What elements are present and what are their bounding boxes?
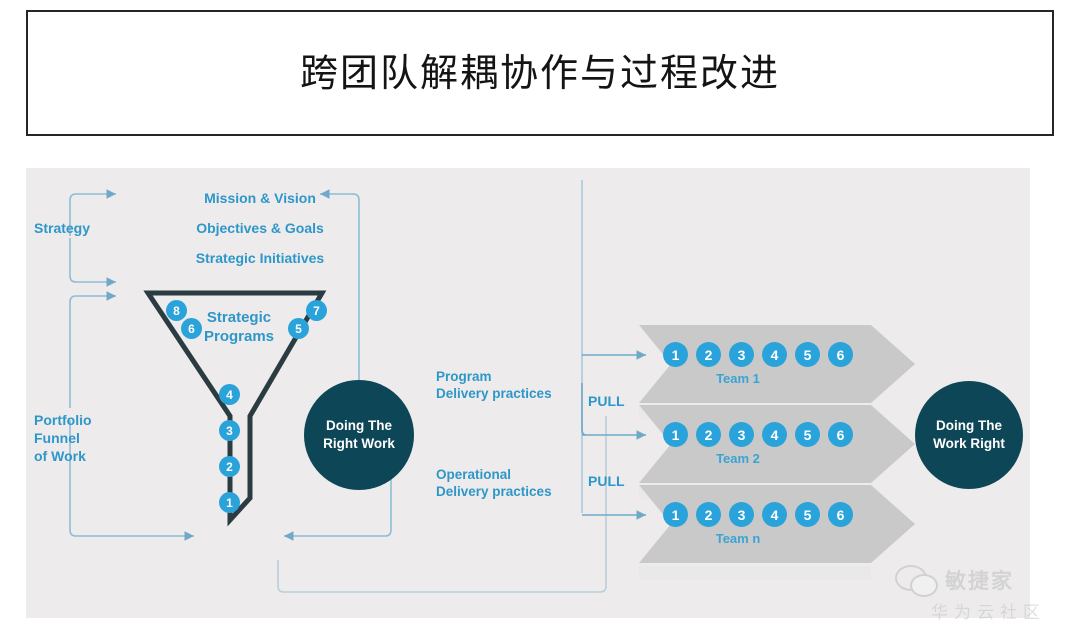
team2-badge-6: 6 xyxy=(828,422,853,447)
teamn-badge-2: 2 xyxy=(696,502,721,527)
team-name-2: Team 2 xyxy=(678,451,798,466)
team1-badge-5: 5 xyxy=(795,342,820,367)
doing-the-right-work-circle: Doing The Right Work xyxy=(304,380,414,490)
doing-the-right-work-label: Doing The Right Work xyxy=(323,417,395,453)
pull-label-2: PULL xyxy=(588,473,625,491)
team-chevron-band-3 xyxy=(639,566,871,580)
team1-badge-4: 4 xyxy=(762,342,787,367)
wechat-icon xyxy=(895,565,939,595)
label-strategy: Strategy xyxy=(34,220,120,238)
teamn-badge-3: 3 xyxy=(729,502,754,527)
team2-badge-4: 4 xyxy=(762,422,787,447)
team1-badge-3: 3 xyxy=(729,342,754,367)
slide-root: 跨团队解耦协作与过程改进 xyxy=(0,0,1080,640)
strategy-item-strategic-initiatives: Strategic Initiatives xyxy=(138,250,382,268)
team2-badge-1: 1 xyxy=(663,422,688,447)
diagram-panel: Strategy Portfolio Funnel of Work Missio… xyxy=(26,168,1030,618)
strategy-item-mission-vision: Mission & Vision xyxy=(138,190,382,208)
team-name-1: Team 1 xyxy=(678,371,798,386)
team2-badge-2: 2 xyxy=(696,422,721,447)
watermark-name: 敏捷家 xyxy=(945,565,1014,595)
team2-badge-5: 5 xyxy=(795,422,820,447)
watermark-sub: 华为云社区 xyxy=(931,598,1046,623)
team2-badge-3: 3 xyxy=(729,422,754,447)
pull-label-1: PULL xyxy=(588,393,625,411)
strategy-connectors xyxy=(70,194,116,282)
doing-the-work-right-label: Doing The Work Right xyxy=(933,417,1005,453)
team1-badge-1: 1 xyxy=(663,342,688,367)
slide-title-box: 跨团队解耦协作与过程改进 xyxy=(26,10,1054,136)
team1-badge-2: 2 xyxy=(696,342,721,367)
teamn-badge-5: 5 xyxy=(795,502,820,527)
funnel-badge-3: 3 xyxy=(219,420,240,441)
funnel-badge-1: 1 xyxy=(219,492,240,513)
funnel-badge-2: 2 xyxy=(219,456,240,477)
funnel-badge-7: 7 xyxy=(306,300,327,321)
funnel-badge-6: 6 xyxy=(181,318,202,339)
team1-badge-6: 6 xyxy=(828,342,853,367)
funnel-badge-4: 4 xyxy=(219,384,240,405)
teamn-badge-6: 6 xyxy=(828,502,853,527)
funnel-badge-5: 5 xyxy=(288,318,309,339)
teamn-badge-1: 1 xyxy=(663,502,688,527)
teamn-badge-4: 4 xyxy=(762,502,787,527)
doing-the-work-right-circle: Doing The Work Right xyxy=(915,381,1023,489)
watermark-row: 敏捷家 xyxy=(895,565,1014,595)
team-name-n: Team n xyxy=(678,531,798,546)
page-title: 跨团队解耦协作与过程改进 xyxy=(300,54,780,92)
funnel-badge-8: 8 xyxy=(166,300,187,321)
watermark: 敏捷家 华为云社区 xyxy=(895,565,1070,631)
label-portfolio: Portfolio Funnel of Work xyxy=(34,412,120,466)
strategy-item-objectives-goals: Objectives & Goals xyxy=(138,220,382,238)
